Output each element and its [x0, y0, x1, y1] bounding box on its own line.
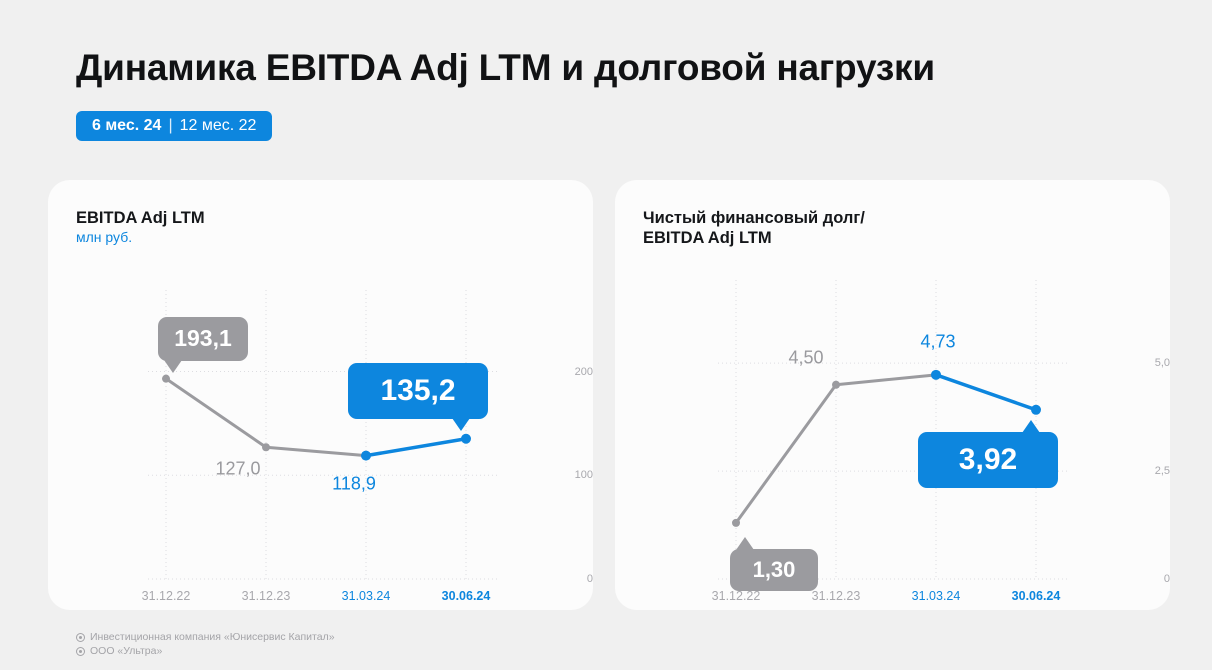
data-point-label: 4,50 [788, 347, 823, 368]
badge-separator: | [168, 117, 172, 135]
chart-card-ebitda: EBITDA Adj LTM млн руб. 200100031.12.223… [48, 180, 593, 610]
callout-value: 1,30 [753, 557, 796, 583]
y-axis-tick: 2,5 [1073, 465, 1170, 477]
x-axis-tick: 31.12.23 [242, 589, 291, 603]
x-axis-tick: 30.06.24 [1012, 589, 1061, 603]
x-axis-tick: 31.12.23 [812, 589, 861, 603]
callout-pointer [736, 537, 754, 550]
callout-pointer [1022, 420, 1040, 433]
callout-value: 193,1 [174, 325, 232, 352]
y-axis-tick: 100 [499, 469, 593, 481]
footer-text: ООО «Ультра» [90, 644, 162, 658]
callout-pointer [452, 418, 470, 431]
footer-text: Инвестиционная компания «Юнисервис Капит… [90, 630, 335, 644]
copyright-icon [76, 633, 85, 642]
value-callout: 3,92 [918, 432, 1058, 488]
chart-card-netdebt: Чистый финансовый долг/ EBITDA Adj LTM 5… [615, 180, 1170, 610]
value-callout: 193,1 [158, 317, 248, 361]
y-axis-tick: 0 [1073, 573, 1170, 585]
x-axis-tick: 31.12.22 [142, 589, 191, 603]
footer-line: ООО «Ультра» [76, 644, 335, 658]
badge-current-period: 6 мес. 24 [92, 117, 161, 135]
footer: Инвестиционная компания «Юнисервис Капит… [76, 630, 335, 658]
value-callout: 135,2 [348, 363, 488, 419]
copyright-icon [76, 647, 85, 656]
footer-line: Инвестиционная компания «Юнисервис Капит… [76, 630, 335, 644]
value-callout: 1,30 [730, 549, 818, 591]
x-axis-tick: 30.06.24 [442, 589, 491, 603]
callout-pointer [164, 360, 182, 373]
y-axis-tick: 0 [499, 573, 593, 585]
data-point-label: 127,0 [215, 459, 260, 480]
page-title: Динамика EBITDA Adj LTM и долговой нагру… [76, 47, 935, 89]
badge-compare-period: 12 мес. 22 [180, 117, 257, 135]
x-axis-tick: 31.12.22 [712, 589, 761, 603]
plot-area-netdebt: 5,02,5031.12.2231.12.2331.03.2430.06.244… [615, 180, 1170, 610]
callout-value: 3,92 [959, 443, 1017, 477]
x-axis-tick: 31.03.24 [912, 589, 961, 603]
period-badge: 6 мес. 24 | 12 мес. 22 [76, 111, 272, 141]
callout-value: 135,2 [380, 374, 455, 408]
x-axis-tick: 31.03.24 [342, 589, 391, 603]
y-axis-tick: 5,0 [1073, 357, 1170, 369]
plot-area-ebitda: 200100031.12.2231.12.2331.03.2430.06.241… [48, 180, 593, 610]
data-point-label: 118,9 [332, 473, 376, 494]
y-axis-tick: 200 [499, 366, 593, 378]
data-point-label: 4,73 [920, 331, 955, 352]
slide-root: Динамика EBITDA Adj LTM и долговой нагру… [0, 0, 1212, 670]
